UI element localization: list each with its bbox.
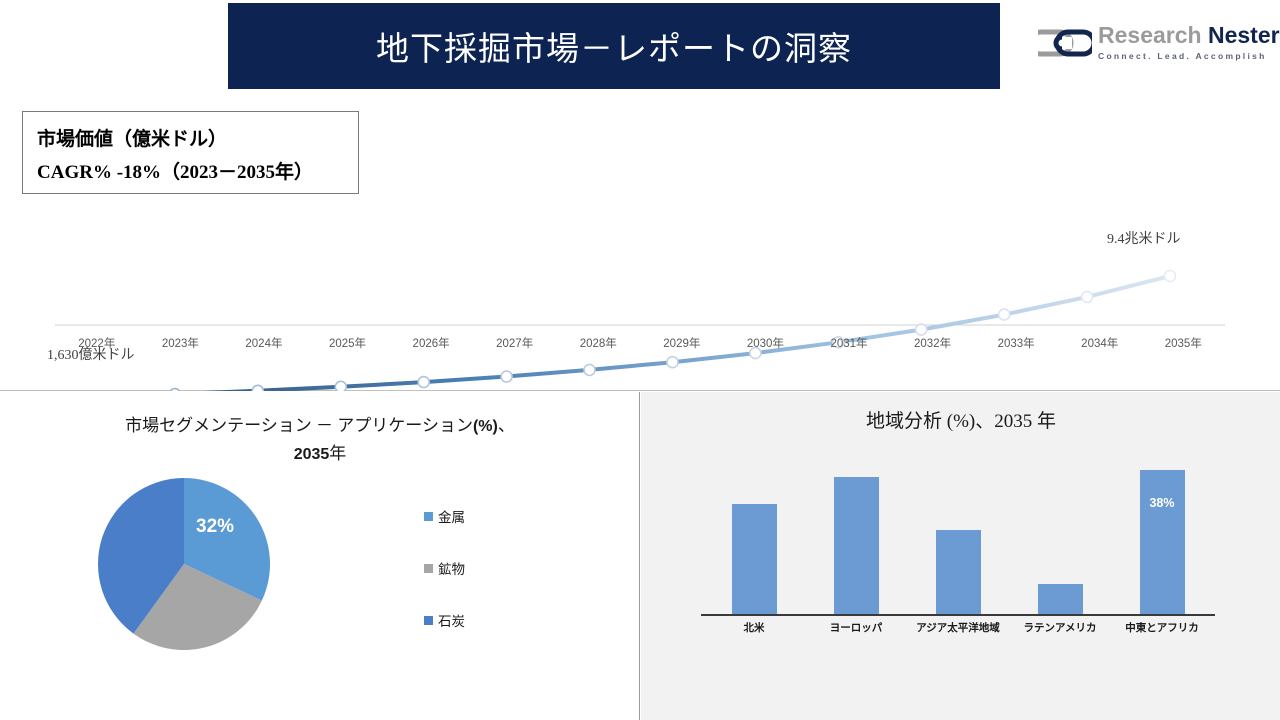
page-title: 地下採掘市場－レポートの洞察 xyxy=(376,22,852,70)
x-axis-tick-label: 2022年 xyxy=(55,335,139,351)
logo-name: Research Nester xyxy=(1098,22,1280,48)
pie-svg xyxy=(96,476,272,652)
title-banner: 地下採掘市場－レポートの洞察 xyxy=(228,3,1000,89)
bottom-panels: 市場セグメンテーション － アプリケーション(%)、 2035年 32% 金属鉱… xyxy=(0,392,1280,720)
segmentation-title: 市場セグメンテーション － アプリケーション(%)、 2035年 xyxy=(20,412,620,468)
market-value-section: 市場価値（億米ドル） CAGR% -18%（2023－2035年） 1,630億… xyxy=(0,95,1280,391)
application-pie-chart xyxy=(96,476,272,652)
x-axis-tick-label: 2033年 xyxy=(974,335,1058,351)
line-data-point xyxy=(501,371,512,382)
line-data-point xyxy=(1165,271,1176,282)
pie-slice-callout: 32% xyxy=(196,516,234,538)
x-axis-tick-label: 2034年 xyxy=(1058,335,1142,351)
bar xyxy=(936,530,981,614)
segmentation-title-year: 2035 xyxy=(294,446,330,463)
bar xyxy=(732,504,777,614)
segmentation-title-pct: (%) xyxy=(473,418,498,435)
legend-swatch-icon xyxy=(424,512,433,521)
legend-label: 鉱物 xyxy=(438,558,465,578)
pie-legend: 金属鉱物石炭 xyxy=(424,490,465,646)
regional-title: 地域分析 (%)、2035 年 xyxy=(661,406,1261,433)
bar xyxy=(1038,584,1083,614)
bar-x-axis-label: 中東とアフリカ xyxy=(1111,620,1213,635)
infographic-page: 地下採掘市場－レポートの洞察 Research Nester Connect. … xyxy=(0,0,1280,720)
bar-column xyxy=(703,504,805,614)
legend-swatch-icon xyxy=(424,616,433,625)
legend-label: 金属 xyxy=(438,506,465,526)
bar-x-axis-label: ラテンアメリカ xyxy=(1009,620,1111,635)
bar-x-axis-label: アジア太平洋地域 xyxy=(907,620,1009,635)
regional-bar-chart: 38% xyxy=(703,460,1213,614)
x-axis-tick-label: 2030年 xyxy=(724,335,808,351)
regional-panel: 地域分析 (%)、2035 年 38% 北米ヨーロッパアジア太平洋地域ラテンアメ… xyxy=(641,392,1280,720)
line-data-point xyxy=(916,324,927,335)
x-axis-tick-label: 2029年 xyxy=(640,335,724,351)
bar-chart-x-axis: 北米ヨーロッパアジア太平洋地域ラテンアメリカ中東とアフリカ xyxy=(703,620,1213,635)
line-data-point xyxy=(584,364,595,375)
bar-x-axis-label: 北米 xyxy=(703,620,805,635)
legend-item: 金属 xyxy=(424,490,465,542)
bar-x-axis-label: ヨーロッパ xyxy=(805,620,907,635)
panel-divider xyxy=(639,392,640,720)
x-axis-tick-label: 2024年 xyxy=(222,335,306,351)
bar xyxy=(834,477,879,614)
line-data-point xyxy=(252,385,263,391)
line-data-point xyxy=(999,309,1010,320)
x-axis-tick-label: 2028年 xyxy=(556,335,640,351)
bar-column xyxy=(907,530,1009,614)
logo-tagline: Connect. Lead. Accomplish xyxy=(1098,51,1280,61)
bar-value-label: 38% xyxy=(1140,496,1185,510)
x-axis-tick-label: 2032年 xyxy=(891,335,975,351)
line-data-point xyxy=(667,357,678,368)
x-axis-tick-label: 2026年 xyxy=(389,335,473,351)
segmentation-title-text: 市場セグメンテーション － アプリケーション xyxy=(125,416,473,435)
line-markers xyxy=(87,271,1176,392)
segmentation-title-year-suffix: 年 xyxy=(329,444,346,463)
logo-name-nester: Nester xyxy=(1208,22,1280,48)
segmentation-panel: 市場セグメンテーション － アプリケーション(%)、 2035年 32% 金属鉱… xyxy=(0,392,639,720)
x-axis-tick-label: 2023年 xyxy=(139,335,223,351)
logo-name-research: Research xyxy=(1098,22,1208,48)
line-data-point xyxy=(169,389,180,391)
bar-column xyxy=(1009,584,1111,614)
legend-label: 石炭 xyxy=(438,610,465,630)
line-chart-x-axis: 2022年2023年2024年2025年2026年2027年2028年2029年… xyxy=(55,335,1225,351)
x-axis-tick-label: 2027年 xyxy=(473,335,557,351)
x-axis-tick-label: 2025年 xyxy=(306,335,390,351)
line-data-point xyxy=(418,377,429,388)
logo-mark-icon xyxy=(1038,28,1092,58)
page-header: 地下採掘市場－レポートの洞察 Research Nester Connect. … xyxy=(0,0,1280,95)
x-axis-tick-label: 2035年 xyxy=(1142,335,1226,351)
bar-column xyxy=(805,477,907,614)
x-axis-tick-label: 2031年 xyxy=(807,335,891,351)
line-data-point xyxy=(1082,291,1093,302)
bar-column: 38% xyxy=(1111,470,1213,614)
bar: 38% xyxy=(1140,470,1185,614)
bar-chart-axis xyxy=(701,614,1215,616)
legend-item: 鉱物 xyxy=(424,542,465,594)
legend-item: 石炭 xyxy=(424,594,465,646)
line-series xyxy=(92,276,1170,391)
segmentation-title-comma: 、 xyxy=(498,416,515,435)
line-data-point xyxy=(335,381,346,391)
brand-logo: Research Nester Connect. Lead. Accomplis… xyxy=(1038,22,1254,74)
legend-swatch-icon xyxy=(424,564,433,573)
logo-wordmark: Research Nester Connect. Lead. Accomplis… xyxy=(1098,22,1280,61)
